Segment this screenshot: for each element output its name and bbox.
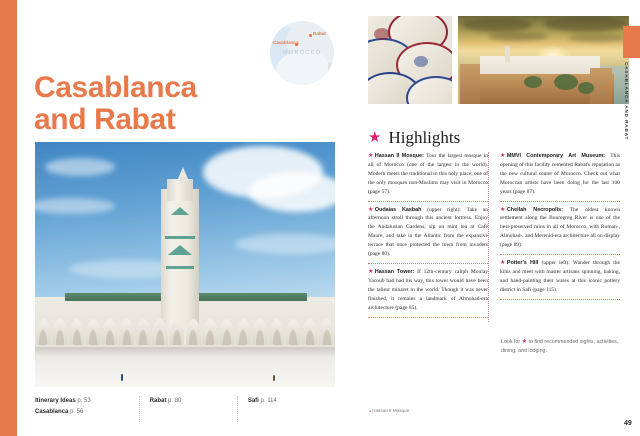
highlight-item[interactable]: ★Oudaias Kasbah (upper right): Take an a… xyxy=(368,206,488,263)
highlight-name: Oudaias Kasbah xyxy=(375,207,422,213)
look-for-note: Look for ★ to find recommended sights, a… xyxy=(501,338,631,355)
highlight-item[interactable]: ★Hassan II Mosque: Tour the largest mosq… xyxy=(368,152,488,201)
person-figure xyxy=(273,375,275,381)
index-entry-label: Casablanca xyxy=(35,409,68,415)
map-label-casablanca: Casablanca xyxy=(273,40,299,45)
photo-kasbah-sunset xyxy=(458,16,629,104)
divider xyxy=(368,201,488,202)
plate-motif xyxy=(374,28,390,40)
cloud-shape xyxy=(45,158,115,176)
hero-photo-hassan-ii-mosque xyxy=(35,142,335,387)
divider xyxy=(368,263,488,264)
tree-foliage xyxy=(524,76,542,88)
cloud-shape xyxy=(488,32,548,41)
index-entry-label: Itinerary Ideas xyxy=(35,398,76,404)
highlights-heading-label: Highlights xyxy=(388,128,460,148)
divider xyxy=(368,317,488,318)
divider xyxy=(500,254,620,255)
plaza-shadow xyxy=(35,347,335,357)
cloud-shape xyxy=(544,16,628,32)
book-spread: Rabat Casablanca MOROCCO Casablanca and … xyxy=(17,0,640,436)
highlight-text: If 12th-century caliph Moulay Yacoub had… xyxy=(368,269,488,311)
photo-ceramic-plates xyxy=(368,16,452,104)
page-title-line1: Casablanca xyxy=(34,72,284,104)
highlight-text: This opening of this facility cemented R… xyxy=(500,153,620,195)
index-entry-page: p. 53 xyxy=(77,398,90,404)
highlight-name: Hassan Tower: xyxy=(375,269,414,275)
highlight-name: Hassan II Mosque: xyxy=(375,153,424,159)
highlight-name: Potter's Hill xyxy=(507,260,539,266)
minaret-tilework xyxy=(166,266,194,269)
index-entry[interactable]: Itinerary Ideas p. 53 xyxy=(35,396,131,407)
highlight-name: Chellah Necropolis: xyxy=(507,207,563,213)
left-page: Rabat Casablanca MOROCCO Casablanca and … xyxy=(17,0,357,436)
page-title: Casablanca and Rabat xyxy=(34,72,284,137)
minaret-tower xyxy=(505,46,510,62)
star-icon: ★ xyxy=(368,269,373,275)
highlights-column-right: ★MMVI Contemporary Art Museum: This open… xyxy=(488,152,620,322)
photo-strip xyxy=(368,16,629,104)
tree-foliage xyxy=(578,82,594,94)
index-column-3: Safi p. 114 xyxy=(237,396,335,422)
tree-foliage xyxy=(554,74,578,90)
index-entry[interactable]: Safi p. 114 xyxy=(248,396,327,407)
map-label-rabat: Rabat xyxy=(313,31,326,36)
highlight-item[interactable]: ★Hassan Tower: If 12th-century caliph Mo… xyxy=(368,268,488,317)
star-icon: ★ xyxy=(368,131,381,146)
highlights-column-left: ★Hassan II Mosque: Tour the largest mosq… xyxy=(368,152,488,322)
index-entry-label: Rabat xyxy=(150,398,167,404)
chapter-index: Itinerary Ideas p. 53 Casablanca p. 56 R… xyxy=(35,396,335,422)
minaret-tilework xyxy=(165,236,195,239)
highlight-text: (upper right): Take an afternoon stroll … xyxy=(368,207,488,258)
star-icon: ★ xyxy=(368,153,373,159)
index-entry[interactable]: Casablanca p. 56 xyxy=(35,407,131,418)
cloud-shape xyxy=(249,172,335,212)
index-entry-page: p. 114 xyxy=(261,398,277,404)
star-icon: ★ xyxy=(500,153,505,159)
minaret-spire xyxy=(177,167,189,181)
map-label-country: MOROCCO xyxy=(283,50,321,56)
cloud-shape xyxy=(568,34,626,42)
highlight-item[interactable]: ★Potter's Hill (upper left): Wander thro… xyxy=(500,259,620,299)
kasbah-tower-left xyxy=(460,64,480,104)
cloud-shape xyxy=(462,18,532,32)
minaret-lantern xyxy=(167,179,193,201)
photo-caption: ▪Hassan II Mosque xyxy=(369,408,409,415)
chapter-thumb-tab[interactable] xyxy=(623,26,640,58)
highlights-heading: ★ Highlights xyxy=(368,128,460,148)
photo-caption-label: Hassan II Mosque xyxy=(372,408,409,413)
highlight-item[interactable]: ★MMVI Contemporary Art Museum: This open… xyxy=(500,152,620,201)
person-figure xyxy=(121,374,123,381)
bullet-icon: ▪ xyxy=(369,409,371,415)
page-number: 49 xyxy=(624,420,632,427)
highlight-text: Tour the largest mosque in all of Morocc… xyxy=(368,153,488,195)
index-entry-page: p. 56 xyxy=(70,409,83,415)
index-entry-page: p. 80 xyxy=(168,398,181,404)
plate-motif xyxy=(414,56,428,67)
index-entry-label: Safi xyxy=(248,398,259,404)
index-column-2: Rabat p. 80 xyxy=(139,396,237,422)
divider xyxy=(500,299,620,300)
star-icon: ★ xyxy=(500,207,505,213)
map-dot-rabat xyxy=(309,34,312,37)
star-icon: ★ xyxy=(500,260,505,266)
page-spine xyxy=(0,0,17,436)
index-entry[interactable]: Rabat p. 80 xyxy=(150,396,229,407)
right-page: ★ Highlights ★Hassan II Mosque: Tour the… xyxy=(357,0,640,436)
highlights-columns: ★Hassan II Mosque: Tour the largest mosq… xyxy=(368,152,629,322)
cloud-shape xyxy=(235,234,335,254)
mosque-arcade xyxy=(35,315,335,349)
mosque-roof-right xyxy=(195,293,307,301)
divider xyxy=(500,201,620,202)
page-title-line2: and Rabat xyxy=(34,104,284,136)
highlight-item[interactable]: ★Chellah Necropolis: The oldest known se… xyxy=(500,206,620,255)
chapter-tab-label: CASABLANCA AND RABAT xyxy=(615,62,629,182)
index-column-1: Itinerary Ideas p. 53 Casablanca p. 56 xyxy=(35,396,139,422)
star-icon: ★ xyxy=(368,207,373,213)
highlight-name: MMVI Contemporary Art Museum: xyxy=(507,153,605,159)
look-for-prefix: Look for xyxy=(501,339,522,345)
